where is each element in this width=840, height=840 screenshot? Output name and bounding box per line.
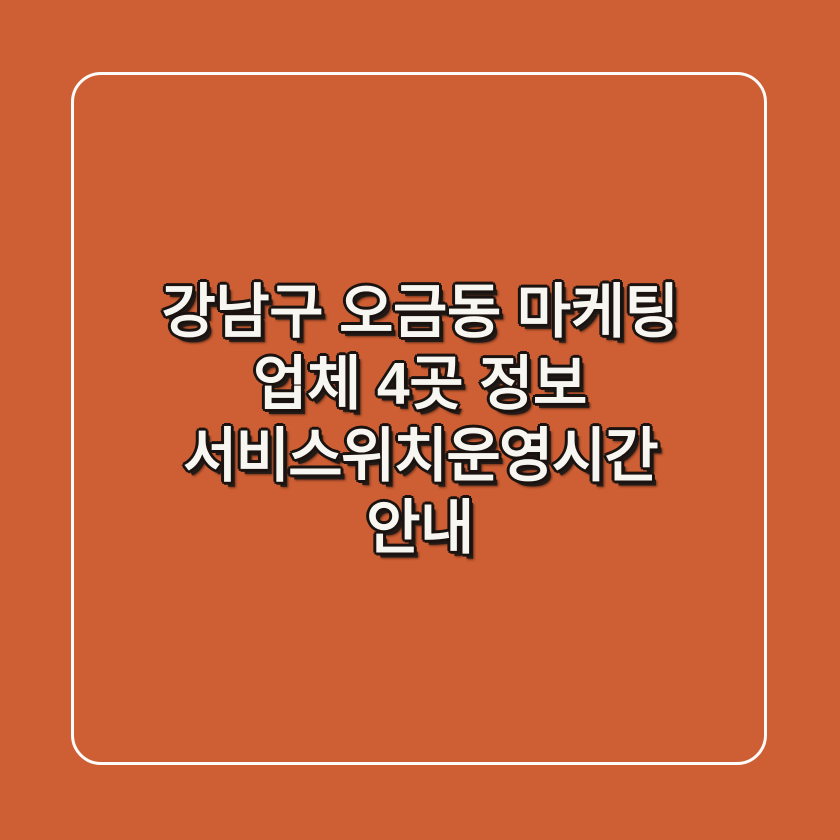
thumbnail-card: 강남구 오금동 마케팅 업체 4곳 정보 서비스위치운영시간 안내 bbox=[0, 0, 840, 840]
headline-line-4: 안내 bbox=[72, 492, 768, 564]
headline-line-3: 서비스위치운영시간 bbox=[72, 420, 768, 492]
headline-line-1: 강남구 오금동 마케팅 bbox=[72, 276, 768, 348]
headline-line-2: 업체 4곳 정보 bbox=[72, 348, 768, 420]
headline-block: 강남구 오금동 마케팅 업체 4곳 정보 서비스위치운영시간 안내 bbox=[0, 0, 840, 840]
